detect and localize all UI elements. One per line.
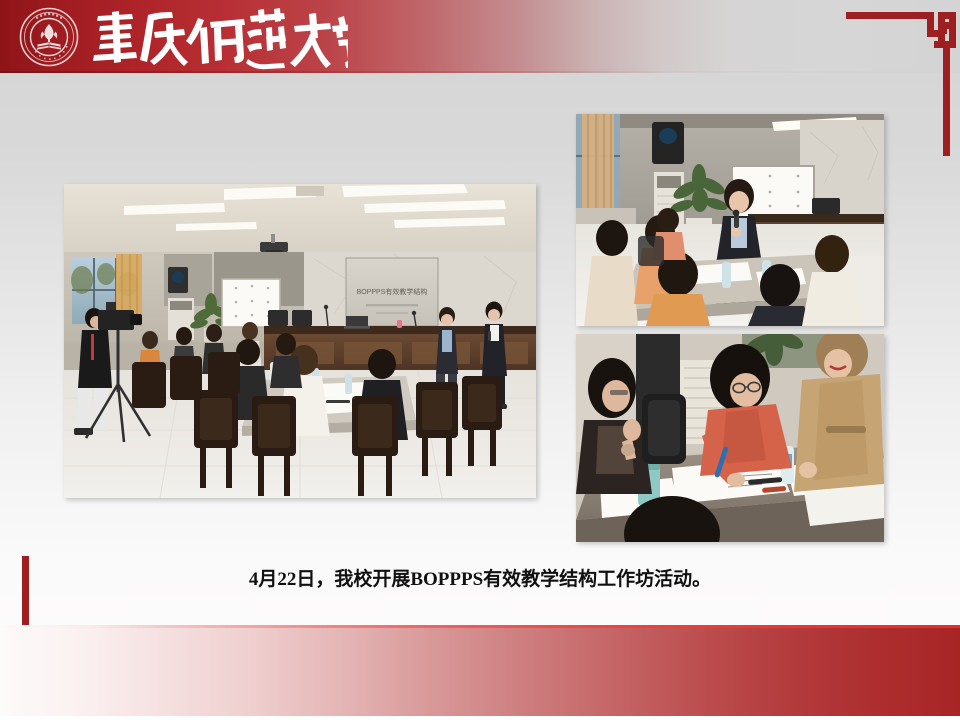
university-seal-logo [19, 7, 79, 67]
photo-seminar-room-wide-shot: BOPPPS有效教学结构 [64, 184, 536, 498]
photo-group-workshop-writing [576, 334, 884, 542]
photo-speaker-with-microphone [576, 114, 884, 326]
bottom-gradient-band [0, 625, 960, 718]
bottom-white-edge [0, 716, 960, 720]
bottom-accent-line [0, 625, 960, 628]
slide-caption: 4月22日，我校开展BOPPPS有效教学结构工作坊活动。 [0, 564, 960, 591]
header-band [0, 0, 960, 73]
university-name-calligraphy [88, 4, 348, 70]
presentation-slide: BOPPPS有效教学结构 [0, 0, 960, 720]
projector-screen-title: BOPPPS有效教学结构 [357, 287, 428, 296]
